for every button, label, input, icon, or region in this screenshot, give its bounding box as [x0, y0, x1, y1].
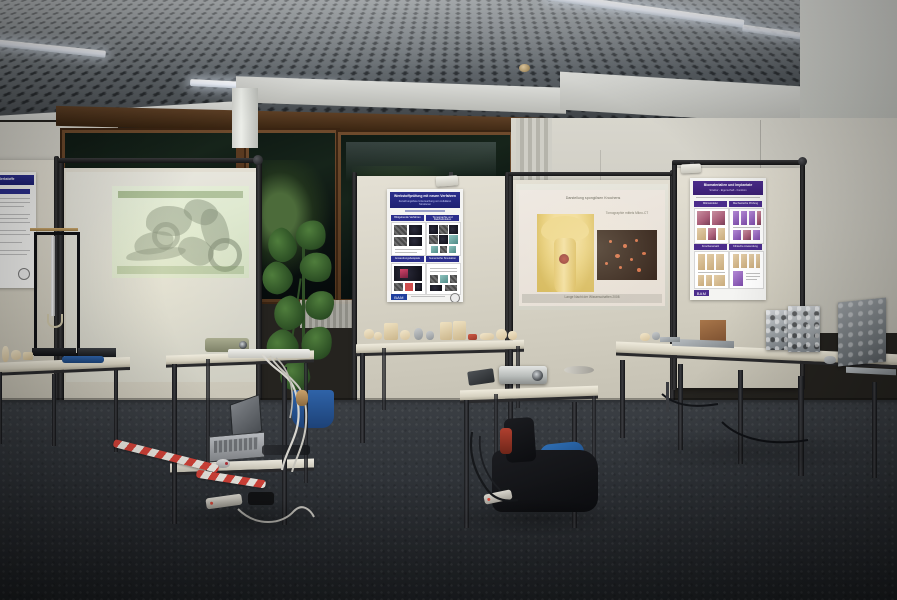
poster-spotlight-right[interactable] — [681, 163, 701, 173]
structural-pillar — [232, 88, 258, 148]
poster-section-4-heading: Klinische Anwendung — [729, 244, 762, 250]
poster-panel-2 — [729, 208, 764, 244]
blue-tray — [62, 356, 104, 363]
institute-logo: BAM — [391, 294, 407, 300]
smoke-detector — [519, 64, 530, 72]
cable-stand-right — [666, 382, 669, 412]
screen-right-glow — [518, 186, 668, 308]
projector-silver — [499, 366, 547, 384]
cable-knot — [296, 390, 308, 406]
poster-panel-3 — [391, 263, 426, 295]
rig-hook — [47, 314, 63, 328]
poster-author-line — [405, 210, 445, 212]
poster-panel-1 — [391, 222, 426, 256]
poster-center-materials[interactable]: Werkstoffprüfung mit neuen Verfahren Zer… — [387, 189, 463, 302]
small-sample-a — [640, 333, 650, 341]
display-table-far-left — [0, 352, 130, 462]
small-sample-c — [824, 356, 836, 364]
partition-knob-rightmost — [798, 157, 807, 166]
poster-seal — [18, 268, 30, 280]
table-leg-back-left — [382, 348, 386, 410]
poster-section-bar — [0, 189, 30, 194]
floor-cable-right — [660, 392, 720, 410]
poster-panel-2 — [426, 222, 461, 256]
cable-path — [660, 392, 720, 410]
ceiling-beam-right-edge — [800, 0, 897, 130]
bone-specimen-group — [0, 338, 48, 364]
table-leg-1 — [620, 360, 625, 438]
poster-right-biomaterials[interactable]: Biomaterialien und Implantate Struktur -… — [690, 178, 766, 300]
rig-load-rod — [51, 236, 55, 316]
small-sample-b — [652, 332, 660, 340]
university-seal — [450, 293, 460, 302]
poster-rule — [696, 197, 760, 198]
table-leg-front-left — [360, 353, 365, 443]
poster-spotlight-center[interactable] — [436, 175, 459, 187]
right-table-floor-shadow — [620, 430, 880, 474]
poster-section-2-text: Mechanische Prüfung — [730, 203, 761, 206]
poster-section-1-text: Mikrostruktur — [695, 203, 726, 206]
copper-plate-sample — [700, 320, 726, 342]
laptop-keyboard[interactable] — [214, 437, 258, 453]
metal-foam-block-2 — [788, 306, 820, 352]
cable-paths — [256, 352, 316, 472]
poster-title-bar: Werkstoffe — [0, 175, 34, 185]
poster-title-bar: Werkstoffprüfung mit neuen Verfahren Zer… — [390, 192, 460, 208]
poster-section-2-heading: Mechanische Prüfung — [729, 201, 762, 207]
partition-knob-left-top — [253, 155, 263, 165]
poster-section-1-heading: Bildgebende Verfahren — [391, 215, 424, 221]
poster-panel-4 — [426, 263, 461, 295]
poster-section-2-text: Tomographie und Rekonstruktion — [427, 217, 458, 222]
poster-section-3-heading: Anwendungsbeispiele — [391, 256, 424, 262]
poster-panel-1 — [694, 208, 729, 244]
poster-section-1-heading: Mikrostruktur — [694, 201, 727, 207]
poster-title-text: Werkstoffprüfung mit neuen Verfahren — [393, 195, 457, 198]
poster-section-3-heading: Knochenersatz — [694, 244, 727, 250]
poster-section-2-heading: Tomographie und Rekonstruktion — [426, 215, 459, 221]
bone-samples — [358, 320, 522, 342]
cable-bundle — [256, 352, 316, 472]
poster-section-4-heading: Numerische Simulation — [426, 256, 459, 262]
poster-section-1-text: Bildgebende Verfahren — [392, 217, 423, 220]
poster-subtitle-text: Struktur - Eigenschaft - Funktion — [696, 190, 760, 193]
metal-foam-block-1 — [766, 310, 788, 350]
rig-crossbar — [30, 228, 78, 231]
poster-section-3-text: Anwendungsbeispiele — [392, 258, 423, 261]
cable-coil-on-table — [564, 366, 594, 374]
partition-rail-left — [58, 158, 262, 163]
center-table-floor-shadow — [452, 498, 622, 538]
metal-foam-panel-large — [838, 297, 886, 366]
poster-title-bar: Biomaterialien und Implantate Struktur -… — [693, 181, 763, 195]
poster-title-text: Biomaterialien und Implantate — [696, 184, 760, 187]
poster-section-4-text: Klinische Anwendung — [730, 246, 761, 249]
poster-section-3-text: Knochenersatz — [695, 246, 726, 249]
exhibition-room-photograph: Werkstoffprüfung mit neuen Verfahren Zer… — [0, 0, 897, 600]
poster-panel-4 — [729, 251, 764, 289]
poster-subtitle-text: Zerstörungsfreie Untersuchung von zellul… — [393, 201, 457, 206]
poster-title-text: Werkstoffe — [0, 178, 14, 181]
institute-logo: BAM — [694, 290, 709, 296]
poster-panel-3 — [694, 251, 729, 289]
cart-floor-shadow — [156, 498, 336, 540]
partition-rail-right — [508, 172, 676, 176]
steel-bar-sample-2 — [660, 337, 680, 342]
poster-section-4-text: Numerische Simulation — [427, 258, 458, 261]
